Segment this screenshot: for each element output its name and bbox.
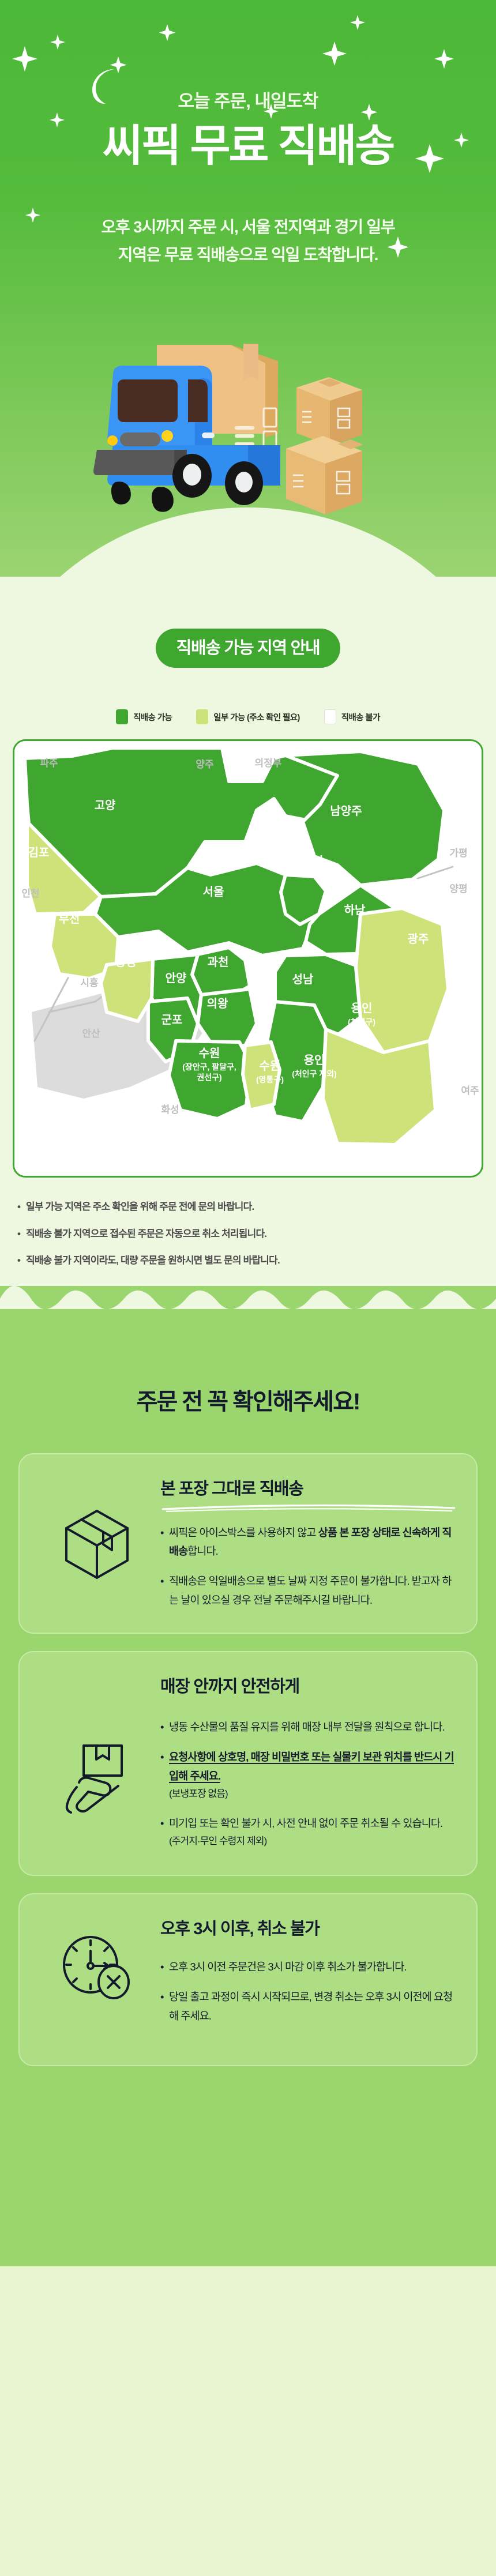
delivery-area-pill-button[interactable]: 직배송 가능 지역 안내 — [156, 629, 340, 668]
cardboard-box-icon — [39, 1475, 155, 1581]
map-label: 용인 — [351, 1002, 373, 1015]
map-label: 남양주 — [330, 804, 362, 818]
package-box-bottom — [286, 436, 363, 514]
map-label: 서울 — [203, 885, 224, 898]
hero-subtitle-line-2: 지역은 무료 직배송으로 익일 도착합니다. — [118, 246, 378, 264]
map-label: 여주 — [461, 1085, 479, 1096]
map-label: 권선구) — [197, 1073, 221, 1082]
map-label: 인천 — [21, 888, 39, 899]
map-note: 직배송 불가 지역이라도, 대량 주문을 원하시면 별도 문의 바랍니다. — [17, 1253, 481, 1268]
map-legend: 직배송 가능 일부 가능 (주소 확인 필요) 직배송 불가 — [0, 709, 496, 724]
title-underline-stroke — [160, 1504, 457, 1512]
legend-item-unavailable: 직배송 불가 — [324, 709, 380, 724]
map-label: (장안구, 팔달구, — [182, 1062, 236, 1071]
map-label: 구리 — [302, 855, 324, 868]
map-label: 군포 — [161, 1014, 183, 1026]
info-bullet: 냉동 수산물의 품질 유지를 위해 매장 내부 전달을 원칙으로 합니다. — [160, 1718, 457, 1736]
map-label: 수원 — [199, 1047, 220, 1060]
map-label: 성남 — [292, 973, 314, 986]
info-bullet: 요청사항에 상호명, 매장 비밀번호 또는 실물키 보관 위치를 반드시 기입해… — [160, 1748, 457, 1803]
map-label: 양주 — [196, 759, 214, 770]
map-label: 김포 — [28, 846, 50, 859]
map-label: 시흥 — [80, 977, 99, 988]
map-label: 가평 — [449, 848, 467, 859]
map-notes-list: 일부 가능 지역은 주소 확인을 위해 주문 전에 문의 바랍니다. 직배송 불… — [0, 1199, 496, 1268]
legend-label-partial: 일부 가능 (주소 확인 필요) — [213, 711, 300, 723]
info-bullet: 씨픽은 아이스박스를 사용하지 않고 상품 본 포장 상태로 신속하게 직배송합… — [160, 1524, 457, 1561]
map-label: 파주 — [40, 758, 58, 769]
legend-label-available: 직배송 가능 — [133, 711, 172, 723]
legend-swatch-available — [116, 709, 128, 724]
info-bullet: 오후 3시 이전 주문건은 3시 마감 이후 취소가 불가합니다. — [160, 1958, 457, 1976]
legend-swatch-unavailable — [324, 709, 336, 724]
map-label: 광주 — [408, 932, 429, 946]
hero-subtitle: 오후 3시까지 주문 시, 서울 전지역과 경기 일부 지역은 무료 직배송으로… — [0, 213, 496, 269]
promo-landing-page: 오늘 주문, 내일도착 씨픽 무료 직배송 오후 3시까지 주문 시, 서울 전… — [0, 0, 496, 2576]
legend-label-unavailable: 직배송 불가 — [341, 711, 380, 723]
delivery-coverage-map[interactable]: 파주양주의정부고양남양주김포가평인천구리서울양평부천하남광명과천광주안양시흥성남… — [13, 739, 483, 1178]
before-order-section: 주문 전 꼭 확인해주세요! 본 포장 그대로 직배송 — [0, 1286, 496, 2266]
package-box-top — [296, 377, 362, 446]
info-card-title: 매장 안까지 안전하게 — [160, 1673, 457, 1697]
info-bullet: 당일 출고 과정이 즉시 시작되므로, 변경 취소는 오후 3시 이전에 요청해… — [160, 1988, 457, 2025]
map-label: 수원 — [260, 1059, 281, 1073]
map-note: 일부 가능 지역은 주소 확인을 위해 주문 전에 문의 바랍니다. — [17, 1199, 481, 1214]
map-label: 광명 — [115, 956, 137, 969]
page-title: 씨픽 무료 직배송 — [0, 122, 496, 171]
delivery-truck-illustration — [58, 340, 404, 536]
map-label: (처인구) — [348, 1017, 375, 1026]
map-label: (영통구) — [256, 1075, 284, 1084]
info-card-store-delivery: 매장 안까지 안전하게 냉동 수산물의 품질 유지를 위해 매장 내부 전달을 … — [18, 1651, 478, 1876]
map-label: 부천 — [59, 912, 80, 926]
map-label: (처인구 제외) — [292, 1069, 337, 1078]
info-card-packaging: 본 포장 그대로 직배송 씨픽은 아이스박스를 사용하지 않고 상품 본 포장 … — [18, 1453, 478, 1634]
legend-swatch-partial — [196, 709, 208, 724]
hero-subtitle-line-1: 오후 3시까지 주문 시, 서울 전지역과 경기 일부 — [101, 218, 394, 236]
info-card-bullets: 오후 3시 이전 주문건은 3시 마감 이후 취소가 불가합니다. 당일 출고 … — [160, 1958, 457, 2025]
info-card-title: 오후 3시 이후, 취소 불가 — [160, 1915, 457, 1939]
map-label: 과천 — [208, 956, 229, 969]
legend-item-available: 직배송 가능 — [116, 709, 172, 724]
map-note: 직배송 불가 지역으로 접수된 주문은 자동으로 취소 처리됩니다. — [17, 1227, 481, 1242]
hand-holding-box-icon — [39, 1673, 155, 1815]
map-label: 하남 — [344, 904, 366, 917]
info-bullet: 미기입 또는 확인 불가 시, 사전 안내 없이 주문 취소될 수 있습니다.(… — [160, 1814, 457, 1850]
map-label: 의정부 — [255, 758, 282, 769]
wave-divider — [0, 1286, 496, 1309]
map-label: 양평 — [449, 883, 467, 894]
delivery-area-section: 직배송 가능 지역 안내 직배송 가능 일부 가능 (주소 확인 필요) 직배송… — [0, 577, 496, 1286]
map-label: 안양 — [166, 972, 187, 985]
map-label: 화성 — [161, 1104, 179, 1115]
info-bullet: 직배송은 익일배송으로 별도 날짜 지정 주문이 불가합니다. 받고자 하는 날… — [160, 1572, 457, 1609]
legend-item-partial: 일부 가능 (주소 확인 필요) — [196, 709, 300, 724]
map-label: 안산 — [82, 1028, 100, 1039]
info-card-title: 본 포장 그대로 직배송 — [160, 1475, 457, 1499]
info-card-bullets: 냉동 수산물의 품질 유지를 위해 매장 내부 전달을 원칙으로 합니다. 요청… — [160, 1718, 457, 1850]
map-label: 고양 — [95, 799, 116, 812]
hero-section: 오늘 주문, 내일도착 씨픽 무료 직배송 오후 3시까지 주문 시, 서울 전… — [0, 0, 496, 577]
info-card-bullets: 씨픽은 아이스박스를 사용하지 않고 상품 본 포장 상태로 신속하게 직배송합… — [160, 1524, 457, 1610]
hero-kicker: 오늘 주문, 내일도착 — [0, 87, 496, 112]
clock-cancel-icon — [39, 1915, 155, 2003]
map-label: 의왕 — [207, 997, 228, 1010]
info-card-cancellation: 오후 3시 이후, 취소 불가 오후 3시 이전 주문건은 3시 마감 이후 취… — [18, 1893, 478, 2066]
map-label: 용인 — [304, 1054, 325, 1067]
